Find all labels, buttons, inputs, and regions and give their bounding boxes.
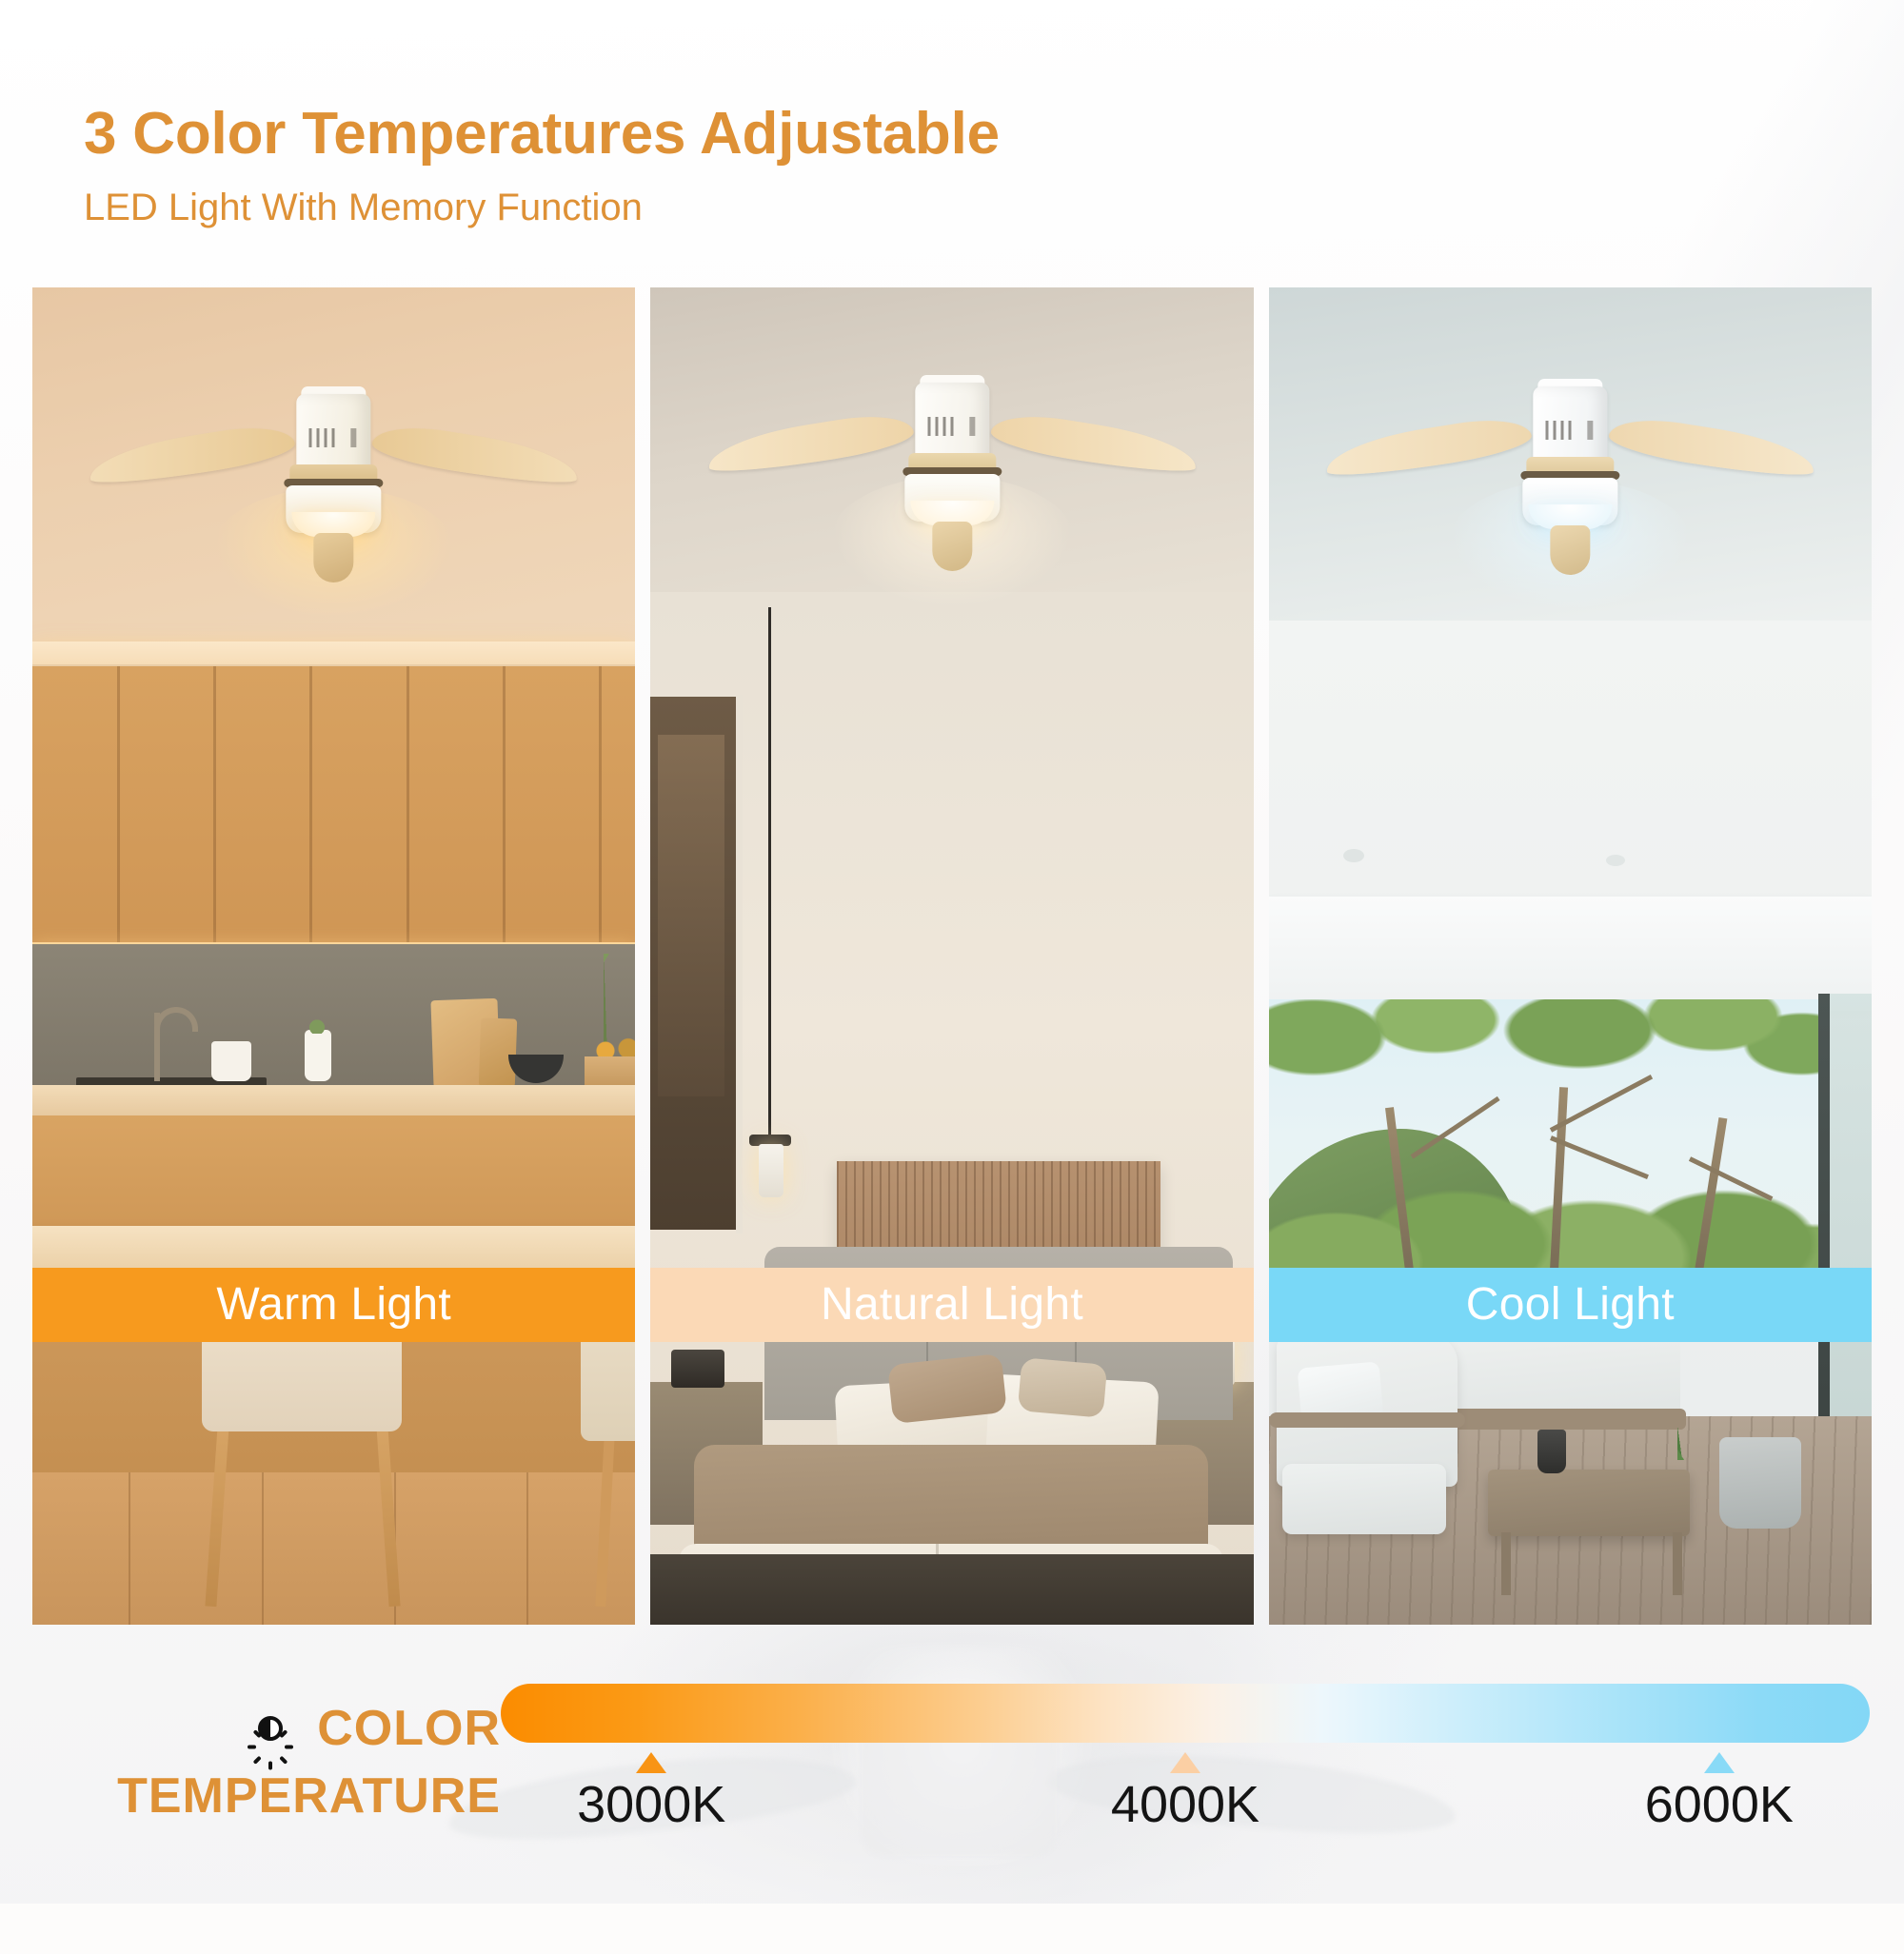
sun-brightness-icon — [243, 1701, 298, 1756]
value-4000k: 4000K — [1111, 1775, 1259, 1834]
temperature-gradient-bar[interactable] — [501, 1684, 1870, 1743]
caption-natural-light: Natural Light — [650, 1268, 1253, 1342]
temperature-values: 3000K 4000K 6000K — [501, 1775, 1870, 1842]
ceiling-fan-warm — [32, 373, 635, 602]
color-word: COLOR — [317, 1704, 501, 1753]
value-6000k: 6000K — [1645, 1775, 1794, 1834]
marker-4000k — [1170, 1752, 1200, 1773]
marker-3000k — [636, 1752, 666, 1773]
ceiling-fan-cool — [1269, 365, 1872, 594]
caption-cool-label: Cool Light — [1466, 1278, 1675, 1331]
caption-warm-label: Warm Light — [216, 1278, 451, 1331]
scene-cool-patio — [1269, 287, 1872, 1625]
caption-natural-label: Natural Light — [821, 1278, 1083, 1331]
caption-warm-light: Warm Light — [32, 1268, 635, 1342]
caption-cool-light: Cool Light — [1269, 1268, 1872, 1342]
light-mode-panels: Warm Light — [0, 287, 1904, 1625]
panel-natural-light[interactable]: Natural Light — [650, 287, 1253, 1625]
temperature-markers — [501, 1743, 1870, 1775]
color-temperature-label: COLOR TEMPERATURE — [91, 1678, 501, 1821]
page-title: 3 Color Temperatures Adjustable — [84, 103, 1904, 166]
color-temperature-scale: COLOR TEMPERATURE 3000K 4000K 6000K — [0, 1678, 1904, 1954]
ceiling-fan-natural — [650, 362, 1253, 590]
scene-warm-kitchen — [32, 287, 635, 1625]
scene-natural-bedroom — [650, 287, 1253, 1625]
panel-cool-light[interactable]: Cool Light — [1269, 287, 1872, 1625]
panel-warm-light[interactable]: Warm Light — [32, 287, 635, 1625]
temperature-slider[interactable]: 3000K 4000K 6000K — [501, 1678, 1870, 1842]
page-subtitle: LED Light With Memory Function — [84, 187, 1904, 228]
temperature-word: TEMPERATURE — [117, 1768, 501, 1824]
header: 3 Color Temperatures Adjustable LED Ligh… — [0, 0, 1904, 228]
value-3000k: 3000K — [577, 1775, 725, 1834]
marker-6000k — [1704, 1752, 1735, 1773]
